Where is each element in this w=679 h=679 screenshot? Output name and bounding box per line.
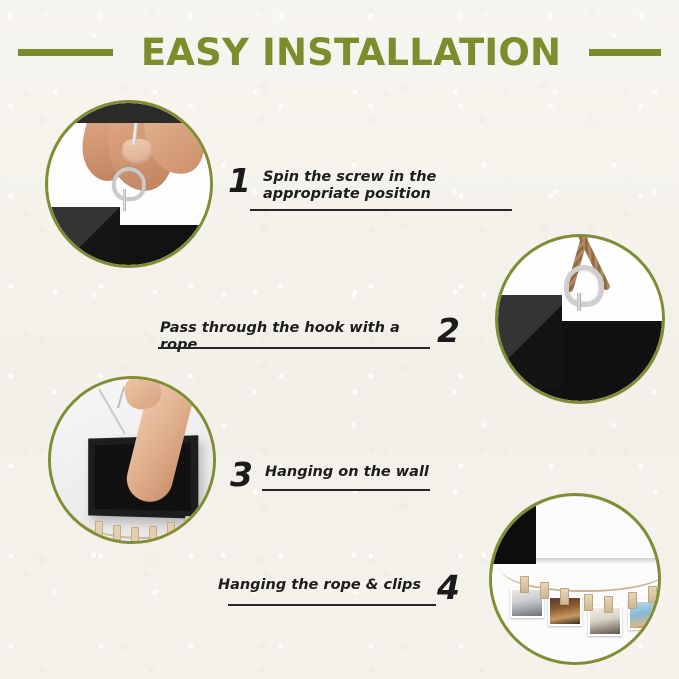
step-3-number: 3 (230, 460, 253, 490)
step-4-image (489, 493, 661, 665)
step-3-underline (262, 489, 430, 491)
step-1-underline (250, 209, 512, 211)
step-3-image (48, 376, 216, 544)
illustration-screw-in-frame (48, 103, 210, 265)
step-4-caption: Hanging the rope & clips 4 (170, 573, 460, 603)
step-3-caption: 3 Hanging on the wall (230, 460, 490, 490)
step-1-caption: 1 Spin the screw in the appropriate posi… (228, 166, 528, 203)
page-title: EASY INSTALLATION (141, 34, 561, 71)
illustration-rope-and-clips (492, 496, 658, 662)
step-1-number: 1 (228, 166, 251, 196)
header: EASY INSTALLATION (0, 20, 679, 84)
step-1-text: Spin the screw in the appropriate positi… (263, 166, 521, 203)
title-rule-left (18, 49, 113, 56)
title-rule-right (589, 49, 661, 56)
step-2-underline (158, 347, 430, 349)
infographic-page: EASY INSTALLATION 1 Spin the screw in th… (0, 0, 679, 679)
step-2-number: 2 (437, 316, 460, 346)
step-2-image (495, 234, 665, 404)
step-4-text: Hanging the rope & clips (218, 573, 421, 594)
illustration-rope-through-hook (498, 237, 662, 401)
illustration-hanging-on-wall (51, 379, 213, 541)
step-1-image (45, 100, 213, 268)
step-4-number: 4 (437, 573, 460, 603)
step-3-text: Hanging on the wall (265, 460, 429, 481)
step-4-underline (228, 604, 436, 606)
